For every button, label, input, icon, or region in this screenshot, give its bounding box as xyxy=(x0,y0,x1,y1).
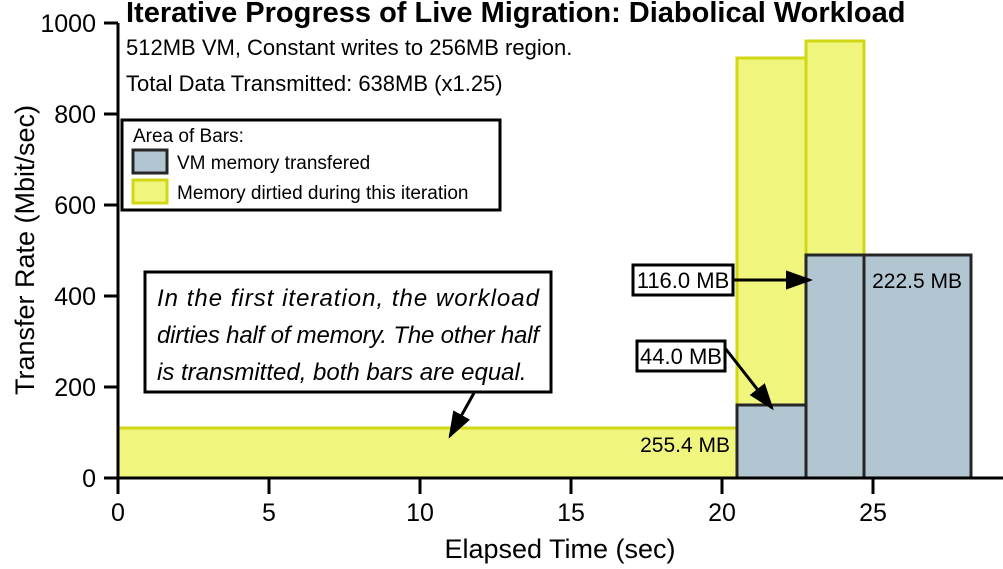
legend-label-dirtied: Memory dirtied during this iteration xyxy=(177,183,468,204)
annotation-line-2: dirties half of memory. The other half xyxy=(157,322,541,349)
x-tick-label-20: 20 xyxy=(708,499,736,527)
y-tick-label-200: 200 xyxy=(54,374,96,402)
annotation-line-3: is transmitted, both bars are equal. xyxy=(157,359,527,386)
y-tick-label-1000: 1000 xyxy=(40,10,96,38)
x-tick-label-25: 25 xyxy=(859,499,887,527)
legend-label-transfered: VM memory transfered xyxy=(177,153,370,174)
legend-title: Area of Bars: xyxy=(133,126,244,147)
bar-label-222mb: 222.5 MB xyxy=(872,270,962,293)
y-tick-label-0: 0 xyxy=(82,465,96,493)
x-tick-label-15: 15 xyxy=(557,499,585,527)
x-tick-label-10: 10 xyxy=(406,499,434,527)
legend-swatch-dirtied xyxy=(133,180,167,203)
chart-canvas: 1000 800 600 400 200 0 0 5 10 15 20 25 E… xyxy=(0,0,1003,569)
bar-transfered-2 xyxy=(806,255,864,478)
callout-44mb-label: 44.0 MB xyxy=(640,344,722,369)
legend-swatch-transfered xyxy=(133,150,167,173)
x-tick-label-0: 0 xyxy=(111,499,125,527)
legend: Area of Bars: VM memory transfered Memor… xyxy=(122,120,500,210)
bar-transfered-1 xyxy=(737,405,806,478)
callout-116mb-label: 116.0 MB xyxy=(637,268,730,293)
x-axis-title: Elapsed Time (sec) xyxy=(444,534,675,564)
annotation-line-1: In the first iteration, the workload xyxy=(157,285,540,312)
x-tick-label-5: 5 xyxy=(262,499,276,527)
y-tick-label-400: 400 xyxy=(54,283,96,311)
chart-title: Iterative Progress of Live Migration: Di… xyxy=(126,0,905,29)
subtitle-line-1: 512MB VM, Constant writes to 256MB regio… xyxy=(126,35,572,60)
y-tick-label-600: 600 xyxy=(54,192,96,220)
bar-label-255mb: 255.4 MB xyxy=(640,434,730,457)
y-tick-label-800: 800 xyxy=(54,101,96,129)
subtitle-line-2: Total Data Transmitted: 638MB (x1.25) xyxy=(126,71,503,96)
y-axis-title: Transfer Rate (Mbit/sec) xyxy=(10,105,40,395)
